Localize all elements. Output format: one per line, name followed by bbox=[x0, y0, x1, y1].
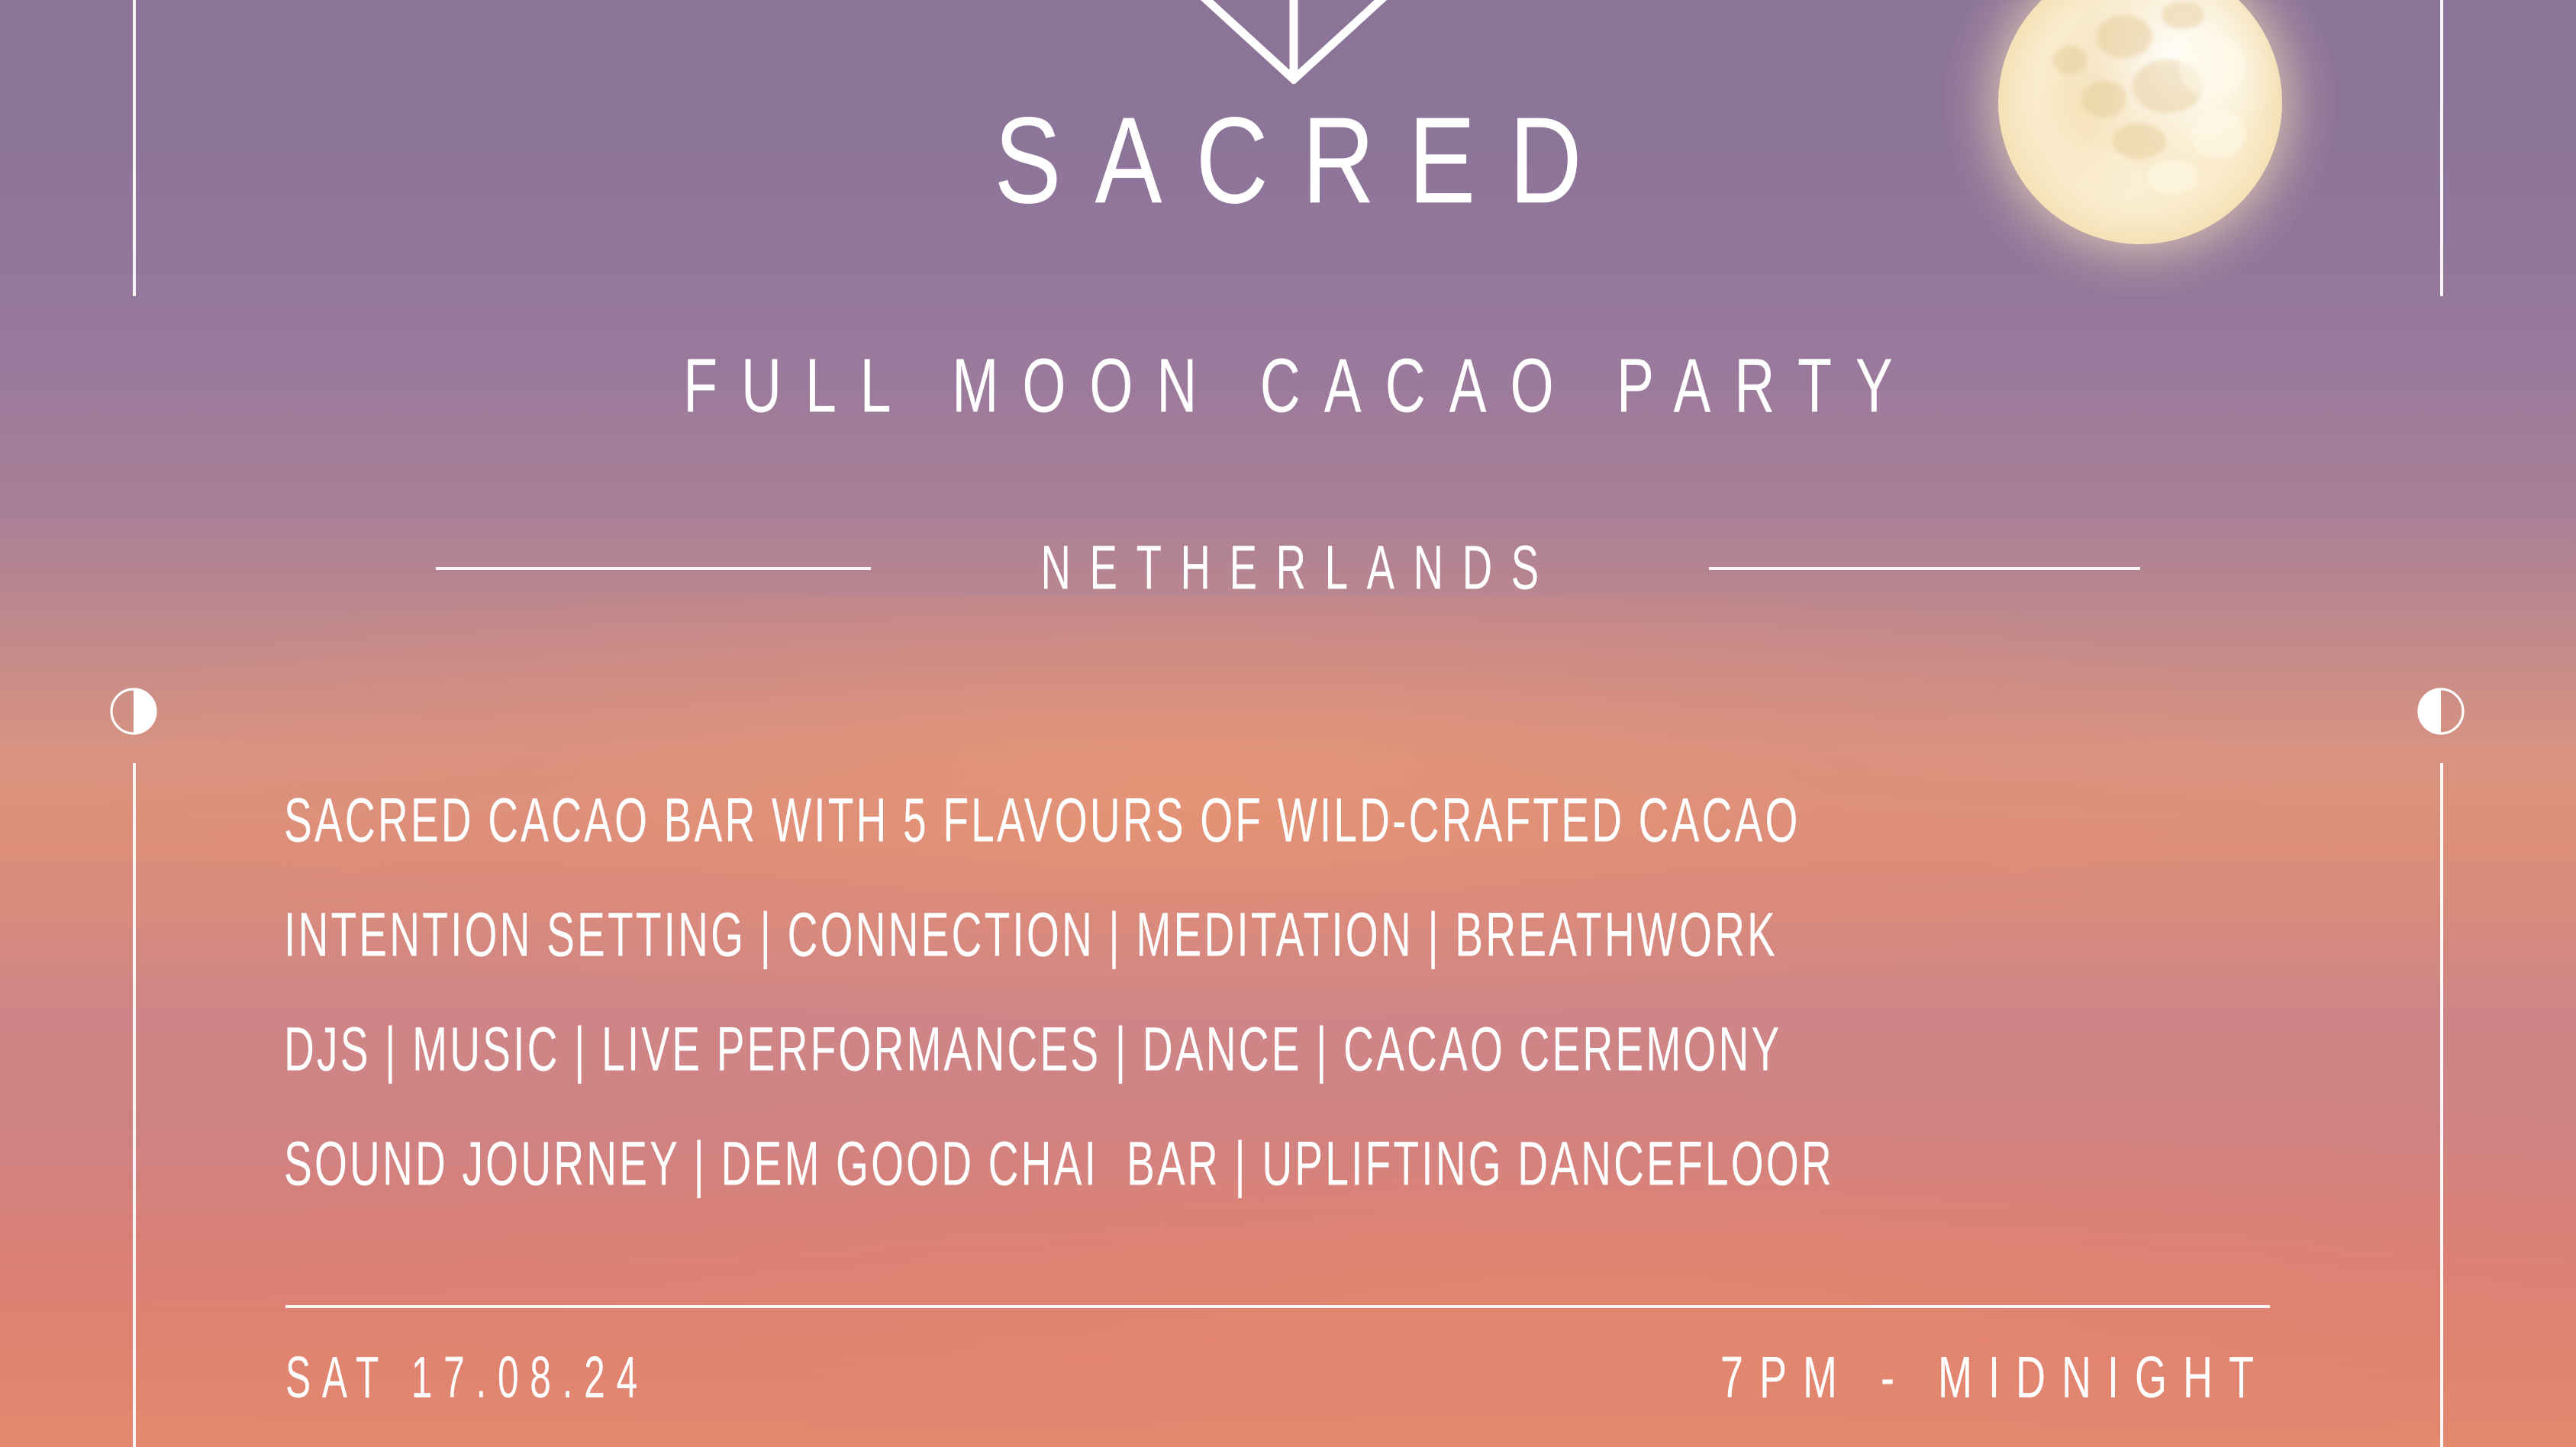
divider-rule-left bbox=[436, 567, 871, 570]
divider-rule-right bbox=[1709, 567, 2140, 570]
moon-crater bbox=[2053, 46, 2087, 75]
half-moon-icon bbox=[109, 687, 158, 736]
moon-crater bbox=[2096, 15, 2152, 58]
frame-line-left-bottom bbox=[133, 763, 136, 1447]
event-time: 7PM - MIDNIGHT bbox=[1720, 1349, 2270, 1407]
diamond-gem-outline-icon bbox=[1154, 0, 1433, 84]
features-list: SACRED CACAO BAR WITH 5 FLAVOURS OF WILD… bbox=[284, 763, 2299, 1221]
event-poster: SACRED FULL MOON CACAO PARTY NETHERLANDS… bbox=[0, 0, 2576, 1447]
location-label: NETHERLANDS bbox=[1022, 537, 1558, 600]
moon-crater bbox=[2178, 34, 2246, 98]
footer-divider-rule bbox=[285, 1305, 2270, 1308]
brand-title: SACRED bbox=[0, 99, 2576, 222]
event-date: SAT 17.08.24 bbox=[285, 1349, 649, 1407]
location-row: NETHERLANDS bbox=[0, 534, 2576, 603]
event-subtitle: FULL MOON CACAO PARTY bbox=[77, 347, 2499, 424]
half-moon-icon bbox=[2416, 687, 2465, 736]
footer-row: SAT 17.08.24 7PM - MIDNIGHT bbox=[285, 1366, 2270, 1407]
frame-line-right-bottom bbox=[2440, 763, 2443, 1447]
feature-line: SOUND JOURNEY | DEM GOOD CHAI BAR | UPLI… bbox=[284, 1081, 2268, 1248]
moon-crater bbox=[2162, 2, 2204, 29]
